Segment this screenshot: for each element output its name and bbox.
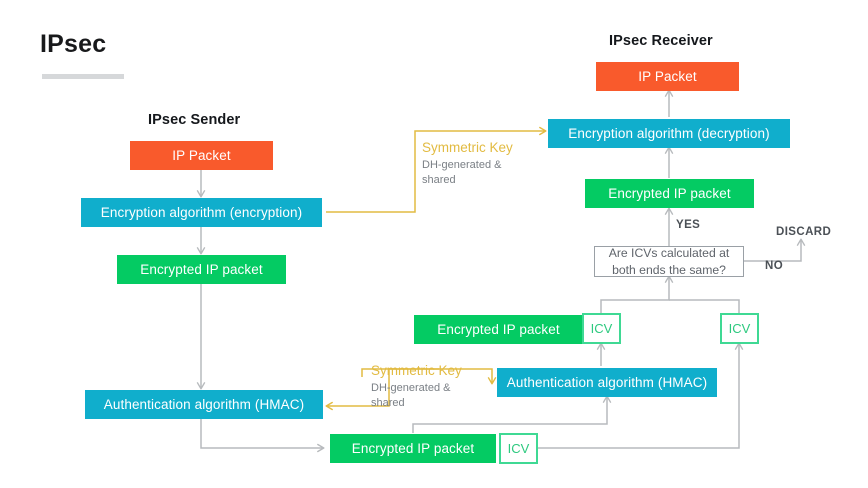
edge-label-discard: DISCARD	[776, 226, 831, 238]
edge-label-no: NO	[765, 260, 783, 272]
sender-ip-packet-box[interactable]: IP Packet	[130, 141, 273, 170]
receiver-authentication-box[interactable]: Authentication algorithm (HMAC)	[497, 368, 717, 397]
page-title: IPsec	[40, 30, 106, 59]
sender-authentication-box[interactable]: Authentication algorithm (HMAC)	[85, 390, 323, 419]
payload-icv-box[interactable]: ICV	[499, 433, 538, 464]
symmetric-key-lower-subtitle: DH-generated & shared	[371, 381, 481, 410]
receiver-recomputed-packet-box[interactable]: Encrypted IP packet	[414, 315, 583, 344]
wire-sender-auth-to-payload	[201, 419, 323, 448]
wire-decision-no	[744, 240, 801, 261]
title-underline	[42, 74, 124, 79]
icv-comparison-decision-box[interactable]: Are ICVs calculated at both ends the sam…	[594, 246, 744, 277]
wire-received-icv-to-decision	[669, 300, 739, 313]
sender-header: IPsec Sender	[148, 112, 240, 128]
receiver-ip-packet-box[interactable]: IP Packet	[596, 62, 739, 91]
receiver-encrypted-packet-box[interactable]: Encrypted IP packet	[585, 179, 754, 208]
receiver-header: IPsec Receiver	[609, 33, 713, 49]
payload-encrypted-packet-box[interactable]: Encrypted IP packet	[330, 434, 496, 463]
receiver-decryption-box[interactable]: Encryption algorithm (decryption)	[548, 119, 790, 148]
wire-icvs-to-decision	[601, 277, 669, 313]
symmetric-key-lower-title: Symmetric Key	[371, 363, 462, 378]
symmetric-key-upper-subtitle: DH-generated & shared	[422, 158, 532, 187]
sender-encrypted-packet-box[interactable]: Encrypted IP packet	[117, 255, 286, 284]
symmetric-key-upper-title: Symmetric Key	[422, 140, 513, 155]
sender-encryption-box[interactable]: Encryption algorithm (encryption)	[81, 198, 322, 227]
receiver-received-icv-box[interactable]: ICV	[720, 313, 759, 344]
receiver-recomputed-icv-box[interactable]: ICV	[582, 313, 621, 344]
edge-label-yes: YES	[676, 219, 700, 231]
ipsec-diagram: IPsec IPsec Sender IPsec Receiver IP Pac…	[0, 0, 868, 488]
